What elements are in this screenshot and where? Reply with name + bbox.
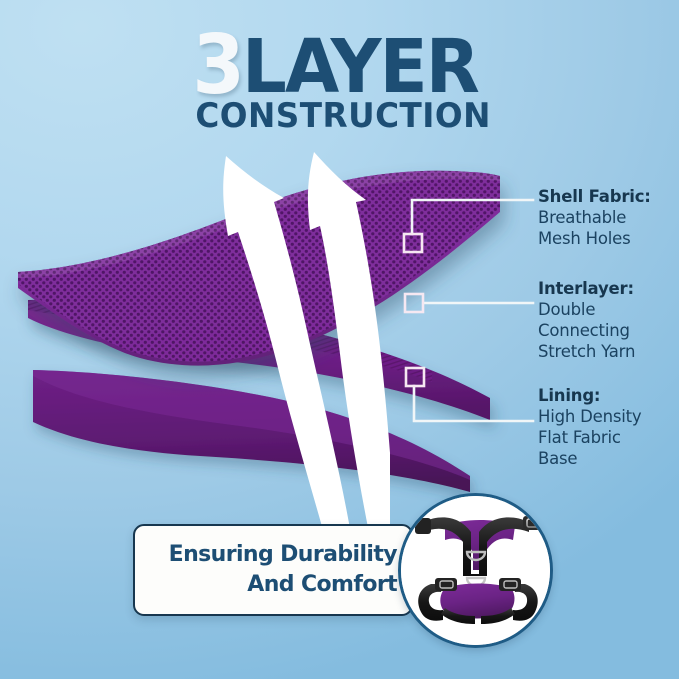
dog-harness-illustration [401,496,553,648]
callout-lining-line3: Base [538,448,679,469]
callout-shell-line1: Breathable [538,207,679,228]
title-word: LAYER [242,32,478,102]
callout-shell-line2: Mesh Holes [538,228,679,249]
harness-buckle-shoulder-left [415,518,431,534]
callout-interlayer: Interlayer: Double Connecting Stretch Ya… [538,278,679,362]
callout-lining-heading: Lining: [538,385,679,406]
callout-interlayer-line3: Stretch Yarn [538,341,679,362]
harness-buckle-left [435,578,457,591]
tagline-line-2: And Comfort [147,570,397,600]
callout-interlayer-heading: Interlayer: [538,278,679,299]
page-title: 3LAYER CONSTRUCTION [0,28,679,103]
tagline-text: Ensuring Durability And Comfort [147,540,397,601]
callout-shell-heading: Shell Fabric: [538,186,679,207]
infographic-canvas: 3LAYER CONSTRUCTION [0,0,679,679]
callout-interlayer-line2: Connecting [538,320,679,341]
harness-buckle-right [499,578,521,591]
callout-lining-line1: High Density [538,406,679,427]
callout-shell-fabric: Shell Fabric: Breathable Mesh Holes [538,186,679,249]
callout-lining-line2: Flat Fabric [538,427,679,448]
title-number: 3 [193,28,243,103]
airflow-arrows [200,140,390,550]
product-image-circle [398,493,553,648]
tagline-line-1: Ensuring Durability [147,540,397,570]
callout-lining: Lining: High Density Flat Fabric Base [538,385,679,469]
harness-buckle-shoulder-right [523,516,543,530]
title-row: 3LAYER CONSTRUCTION [188,28,491,103]
tagline-banner: Ensuring Durability And Comfort [133,524,413,616]
callout-interlayer-line1: Double [538,299,679,320]
